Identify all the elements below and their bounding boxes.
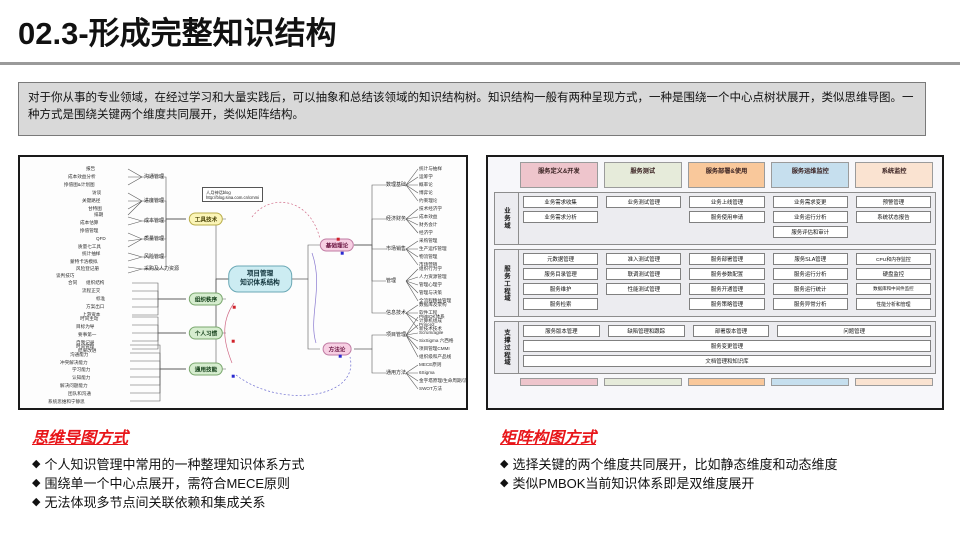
matrix-col-footer-4 <box>855 378 933 386</box>
matrix-item[interactable]: 业务需求收集 <box>523 196 598 208</box>
matrix-wide-item-0[interactable]: 服务变更管理 <box>523 340 931 352</box>
mindmap-rleaf-g0: 组织行为学 <box>419 266 442 272</box>
matrix-caption-title: 矩阵构图方式 <box>500 424 837 448</box>
matrix-cell-0-0: 业务需求收集 业务需求分析 <box>519 196 602 241</box>
mindmap-rleaf-p1: Prince2 <box>419 322 435 328</box>
matrix-caption-block: 矩阵构图方式 ◆选择关键的两个维度共同展开，比如静态维度和动态维度 ◆类似PMB… <box>500 424 837 493</box>
mindmap-rleaf-k2: 物流管理 <box>419 254 437 260</box>
mindmap-leaf-t8: 挣值管理 <box>80 228 98 234</box>
matrix-item[interactable]: 服务策略管理 <box>689 298 764 310</box>
list-item-text: 无法体现多节点间关联依赖和集成关系 <box>44 493 265 512</box>
link-marker-red <box>337 238 340 241</box>
mindmap-rleaf-e0: 技术经济学 <box>419 206 442 212</box>
list-item-text: 个人知识管理中常用的一种整理知识体系方式 <box>44 455 304 474</box>
diamond-bullet-icon: ◆ <box>500 474 508 493</box>
mindmap-branch-habit: 个人习惯 <box>189 327 223 340</box>
mindmap-leaf-t1: 成本效益分析 <box>68 174 96 180</box>
mindmap-leaf-t14: 谈判技巧 <box>56 273 74 279</box>
mindmap-leaf-o2: 标准 <box>96 296 105 302</box>
mindmap-rleaf-p5: 组织级和产品线 <box>419 354 451 360</box>
matrix-item[interactable]: 服务运行统计 <box>773 283 848 295</box>
mindmap-caption-title: 思维导图方式 <box>32 424 304 448</box>
matrix-row-label-1: 服务工程域 <box>495 250 519 316</box>
matrix-item[interactable]: 服务运行分析 <box>773 268 848 280</box>
mindmap-rleaf-e3: 经济学 <box>419 230 433 236</box>
matrix-col-footer-3 <box>771 378 849 386</box>
matrix-cell-1-4: CPU和内存监控 硬盘监控 数据库和中间件监控 性能分析和管理 <box>852 253 935 313</box>
mindmap-leaf-t0: 报告 <box>86 166 95 172</box>
mindmap-leaf-s1: 沟通能力 <box>70 352 88 358</box>
list-item: ◆类似PMBOK当前知识体系即是双维度展开 <box>500 474 837 493</box>
matrix-item[interactable]: 服务开通管理 <box>689 283 764 295</box>
mindmap-rleaf-g2: 管理心理学 <box>419 282 442 288</box>
slide-root: 02.3-形成完整知识结构 对于你从事的专业领域，在经过学习和大量实践后，可以抽… <box>0 0 960 540</box>
matrix-cell-1-0: 元数据管理 服务目录管理 服务维护 服务检索 <box>519 253 602 313</box>
footer-corner-spacer <box>494 378 517 386</box>
mindmap-leaf-o3: 方案出口 <box>86 304 104 310</box>
mindmap-mid-3: 质量管理 <box>144 236 164 242</box>
matrix-col-footer-2 <box>688 378 766 386</box>
matrix-item[interactable]: 服务异常分析 <box>773 298 848 310</box>
header-corner-spacer <box>494 162 517 188</box>
mindmap-leaf-s4: 认知能力 <box>72 375 90 381</box>
matrix-item[interactable]: 部署版本管理 <box>693 325 770 337</box>
mindmap-leaf-t15: 合同 <box>68 280 77 286</box>
mindmap-leaf-h2: 要事第一 <box>78 332 96 338</box>
matrix-item[interactable]: 联调测试管理 <box>606 268 681 280</box>
matrix-item[interactable]: 服务评估和审计 <box>773 226 848 238</box>
mindmap-rleaf-m3: 博弈论 <box>419 190 433 196</box>
matrix-header-row: 服务定义&开发 服务测试 服务部署&使用 服务运维监控 系统监控 <box>494 162 936 188</box>
mindmap-rmid-0: 数理基础 <box>386 182 406 188</box>
mindmap-branch-skill: 通用技能 <box>189 363 223 376</box>
mindmap-leaf-t6: 排期 <box>94 212 103 218</box>
matrix-col-header-2: 服务部署&使用 <box>688 162 766 188</box>
matrix-cell-0-2: 业务上线管理 服务使用申请 <box>685 196 768 241</box>
mindmap-rleaf-k0: 采购管理 <box>419 238 437 244</box>
mindmap-rleaf-p4: 项目管理CMMI <box>419 346 450 352</box>
mindmap-rleaf-g1: 人力资源管理 <box>419 274 447 280</box>
mindmap-leaf-t13: 风险登记册 <box>76 266 99 272</box>
matrix-row-service-engineering: 服务工程域 元数据管理 服务目录管理 服务维护 服务检索 准入测试管理 联调测试… <box>494 249 936 317</box>
matrix-bullet-list: ◆选择关键的两个维度共同展开，比如静态维度和动态维度 ◆类似PMBOK当前知识体… <box>500 455 837 493</box>
intro-callout: 对于你从事的专业领域，在经过学习和大量实践后，可以抽象和总结该领域的知识结构树。… <box>18 82 926 136</box>
matrix-item[interactable]: 服务维护 <box>523 283 598 295</box>
matrix-cell-2-0: 服务版本管理 <box>519 325 604 340</box>
mindmap-branch-order: 组织秩序 <box>189 293 223 306</box>
matrix-grid: 服务定义&开发 服务测试 服务部署&使用 服务运维监控 系统监控 业务域 业务需… <box>488 157 942 408</box>
mindmap-source-note: 人月神话blog http://blog.sina.com.cn/cmmi <box>202 187 263 202</box>
mindmap-leaf-t4: 关键路径 <box>82 198 100 204</box>
mindmap-leaf-t11: 统计抽样 <box>82 251 100 257</box>
mindmap-leaf-t10: 质量七工具 <box>78 244 101 250</box>
matrix-row-business: 业务域 业务需求收集 业务需求分析 业务测试管理 业务上线管理 服务使用申请 业… <box>494 192 936 245</box>
matrix-item[interactable]: 服务版本管理 <box>523 325 600 337</box>
matrix-row-2-top: 服务版本管理 缺陷管理和跟踪 部署版本管理 问题管理 <box>519 325 935 340</box>
title-divider <box>0 62 960 65</box>
matrix-cell-1-1: 准入测试管理 联调测试管理 性能测试管理 <box>602 253 685 313</box>
matrix-item[interactable]: 元数据管理 <box>523 253 598 265</box>
matrix-footer-row <box>494 378 936 386</box>
matrix-item[interactable]: 性能分析和管理 <box>856 298 931 310</box>
matrix-cell-2-2: 部署版本管理 <box>689 325 774 340</box>
mindmap-rleaf-w0: MECE原则 <box>419 362 441 368</box>
list-item: ◆围绕单一个中心点展开，需符合MECE原则 <box>32 474 304 493</box>
mindmap-leaf-t12: 蒙特卡洛模拟 <box>70 259 98 265</box>
page-title: 02.3-形成完整知识结构 <box>18 8 337 53</box>
matrix-row-2-content: 服务版本管理 缺陷管理和跟踪 部署版本管理 问题管理 服务变更管理 文档 <box>519 322 935 373</box>
mindmap-leaf-s2: 冲突解决能力 <box>60 360 88 366</box>
mindmap-rleaf-w2: 金字塔原理/生命周期/流程 <box>419 378 468 384</box>
mindmap-leaf-s3: 学习能力 <box>72 367 90 373</box>
matrix-row-0-columns: 业务需求收集 业务需求分析 业务测试管理 业务上线管理 服务使用申请 业务需求变… <box>519 193 935 244</box>
mindmap-leaf-o0: 组织结构 <box>86 280 104 286</box>
list-item-text: 选择关键的两个维度共同展开，比如静态维度和动态维度 <box>512 455 837 474</box>
mindmap-mid-5: 采购及人力资源 <box>144 266 179 272</box>
matrix-item[interactable]: 业务需求变更 <box>773 196 848 208</box>
matrix-row-label-0: 业务域 <box>495 193 519 244</box>
matrix-row-1-columns: 元数据管理 服务目录管理 服务维护 服务检索 准入测试管理 联调测试管理 性能测… <box>519 250 935 316</box>
mindmap-leaf-t3: 访谈 <box>92 190 101 196</box>
mindmap-mid-0: 沟通管理 <box>144 174 164 180</box>
mindmap-leaf-s6: 团队和沟通 <box>68 391 91 397</box>
mindmap-branch-method: 方法论 <box>323 343 352 356</box>
matrix-wide-item-1[interactable]: 文档管理和知识库 <box>523 355 931 367</box>
matrix-item[interactable]: 业务运行分析 <box>773 211 848 223</box>
matrix-item[interactable]: 预警管理 <box>856 196 931 208</box>
mindmap-rleaf-w1: 6Sigma <box>419 370 435 376</box>
mindmap-leaf-o1: 流程正交 <box>82 288 100 294</box>
center-line-1: 项目管理 <box>240 271 280 280</box>
matrix-panel: 服务定义&开发 服务测试 服务部署&使用 服务运维监控 系统监控 业务域 业务需… <box>486 155 944 410</box>
diamond-bullet-icon: ◆ <box>32 455 40 474</box>
mindmap-rleaf-g3: 管理与决策 <box>419 290 442 296</box>
mindmap-rmid-1: 经济财务 <box>386 216 406 222</box>
matrix-row-support-process: 支撑过程域 服务版本管理 缺陷管理和跟踪 部署版本管理 问题管理 <box>494 321 936 374</box>
mindmap-rmid-4: 信息技术 <box>386 310 406 316</box>
mindmap-rmid-6: 通用方法 <box>386 370 406 376</box>
mindmap-leaf-h1: 目标为导 <box>76 324 94 330</box>
matrix-item[interactable]: 业务上线管理 <box>689 196 764 208</box>
matrix-item[interactable]: 服务SLA管理 <box>773 253 848 265</box>
mindmap-branch-theory: 基础理论 <box>320 239 354 252</box>
mindmap-leaf-t2: 挣值图&计划图 <box>64 182 95 188</box>
mindmap-leaf-h0: 时间主动 <box>80 316 98 322</box>
matrix-row-label-2: 支撑过程域 <box>495 322 519 373</box>
matrix-item[interactable]: 数据库和中间件监控 <box>856 283 931 295</box>
mindmap-leaf-s7: 系统思维和宁静思 <box>48 399 85 405</box>
source-note-url: http://blog.sina.com.cn/cmmi <box>206 195 259 200</box>
matrix-cell-0-3: 业务需求变更 业务运行分析 服务评估和审计 <box>769 196 852 241</box>
mindmap-rleaf-m0: 统计与抽样 <box>419 166 442 172</box>
matrix-col-footer-1 <box>604 378 682 386</box>
mindmap-bullet-list: ◆个人知识管理中常用的一种整理知识体系方式 ◆围绕单一个中心点展开，需符合MEC… <box>32 455 304 512</box>
center-line-2: 知识体系结构 <box>240 279 280 288</box>
matrix-cell-1-3: 服务SLA管理 服务运行分析 服务运行统计 服务异常分析 <box>769 253 852 313</box>
mindmap-panel: 项目管理 知识体系结构 人月神话blog http://blog.sina.co… <box>18 155 468 410</box>
matrix-item[interactable]: 服务参数配置 <box>689 268 764 280</box>
matrix-item[interactable]: 缺陷管理和跟踪 <box>608 325 685 337</box>
link-marker-blue <box>341 252 344 255</box>
mindmap-rmid-5: 项目管理 <box>386 332 406 338</box>
matrix-col-header-4: 系统监控 <box>855 162 933 188</box>
mindmap-mid-1: 进度管理 <box>144 198 164 204</box>
mindmap-rmid-3: 管理 <box>386 278 396 284</box>
matrix-item[interactable]: 系统状态报告 <box>856 211 931 223</box>
mindmap-center-node: 项目管理 知识体系结构 <box>228 266 292 293</box>
list-item-text: 围绕单一个中心点展开，需符合MECE原则 <box>44 474 290 493</box>
mindmap-branch-tools: 工具技术 <box>189 213 223 226</box>
matrix-cell-1-2: 服务部署管理 服务参数配置 服务开通管理 服务策略管理 <box>685 253 768 313</box>
mindmap-rleaf-e2: 财务会计 <box>419 222 437 228</box>
mindmap-rleaf-w3: SWOT方法 <box>419 386 442 392</box>
mindmap-rleaf-m4: 约束理论 <box>419 198 437 204</box>
matrix-item[interactable]: 业务需求分析 <box>523 211 598 223</box>
mindmap-rleaf-i0: 数据库及架构 <box>419 302 447 308</box>
matrix-cell-0-1: 业务测试管理 <box>602 196 685 241</box>
list-item-text: 类似PMBOK当前知识体系即是双维度展开 <box>512 474 754 493</box>
mindmap-caption-block: 思维导图方式 ◆个人知识管理中常用的一种整理知识体系方式 ◆围绕单一个中心点展开… <box>32 424 304 512</box>
link-marker-blue-2 <box>232 375 235 378</box>
mindmap-rleaf-p0: PMBOK体系 <box>419 314 445 320</box>
mindmap-leaf-t7: 成本估算 <box>80 220 98 226</box>
diamond-bullet-icon: ◆ <box>500 455 508 474</box>
link-marker-red-2 <box>233 306 236 309</box>
link-marker-red-3 <box>232 340 235 343</box>
matrix-col-header-1: 服务测试 <box>604 162 682 188</box>
matrix-item[interactable]: 服务目录管理 <box>523 268 598 280</box>
matrix-col-header-3: 服务运维监控 <box>771 162 849 188</box>
diamond-bullet-icon: ◆ <box>32 493 40 512</box>
mindmap-leaf-s5: 解决问题能力 <box>60 383 88 389</box>
mindmap-rleaf-m2: 概率论 <box>419 182 433 188</box>
matrix-col-footer-0 <box>520 378 598 386</box>
list-item: ◆个人知识管理中常用的一种整理知识体系方式 <box>32 455 304 474</box>
matrix-item[interactable]: 准入测试管理 <box>606 253 681 265</box>
matrix-item[interactable]: 服务检索 <box>523 298 598 310</box>
mindmap-rleaf-e1: 成本效益 <box>419 214 437 220</box>
list-item: ◆选择关键的两个维度共同展开，比如静态维度和动态维度 <box>500 455 837 474</box>
mindmap-rleaf-m1: 运筹学 <box>419 174 433 180</box>
matrix-cell-0-4: 预警管理 系统状态报告 <box>852 196 935 241</box>
mindmap-mid-4: 风险管理 <box>144 254 164 260</box>
matrix-cell-2-3: 问题管理 <box>773 325 935 340</box>
mindmap-rleaf-p3: SixSigma 六西格 <box>419 338 453 344</box>
mindmap-rleaf-p2: Scrum/agile <box>419 330 443 336</box>
list-item: ◆无法体现多节点间关联依赖和集成关系 <box>32 493 304 512</box>
diamond-bullet-icon: ◆ <box>32 474 40 493</box>
matrix-item[interactable]: CPU和内存监控 <box>856 253 931 265</box>
matrix-item[interactable]: 性能测试管理 <box>606 283 681 295</box>
matrix-item[interactable]: 业务测试管理 <box>606 196 681 208</box>
mindmap-leaf-t9: QFD <box>96 236 106 242</box>
mindmap-canvas: 项目管理 知识体系结构 人月神话blog http://blog.sina.co… <box>20 157 466 408</box>
mindmap-rleaf-k1: 生产运作管理 <box>419 246 447 252</box>
link-marker-blue-3 <box>339 355 342 358</box>
matrix-cell-2-1: 缺陷管理和跟踪 <box>604 325 689 340</box>
matrix-col-header-0: 服务定义&开发 <box>520 162 598 188</box>
matrix-item[interactable]: 服务部署管理 <box>689 253 764 265</box>
matrix-item[interactable]: 服务使用申请 <box>689 211 764 223</box>
mindmap-rmid-2: 市场销售 <box>386 246 406 252</box>
intro-text: 对于你从事的专业领域，在经过学习和大量实践后，可以抽象和总结该领域的知识结构树。… <box>28 90 916 124</box>
mindmap-mid-2: 成本管理 <box>144 218 164 224</box>
matrix-item[interactable]: 硬盘监控 <box>856 268 931 280</box>
mindmap-leaf-s0: 时间管理 <box>76 344 94 350</box>
matrix-item[interactable]: 问题管理 <box>777 325 931 337</box>
